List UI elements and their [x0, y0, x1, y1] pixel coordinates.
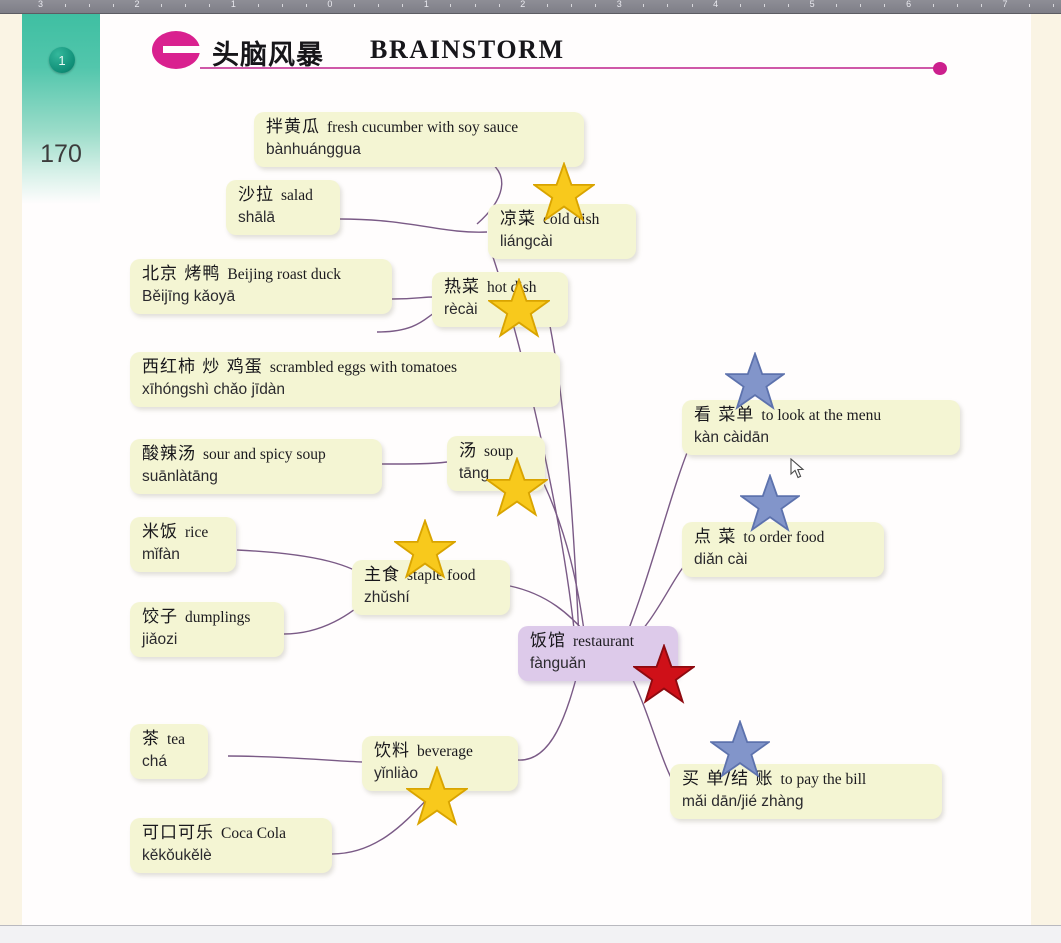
- ruler-tick: [957, 4, 958, 7]
- window-bottom-strip: [0, 925, 1061, 943]
- ruler-tick: [547, 4, 548, 7]
- list-item[interactable]: 饺子dumplings jiǎozi: [130, 602, 284, 657]
- ruler-tick: [667, 4, 668, 7]
- list-item[interactable]: 茶tea chá: [130, 724, 208, 779]
- node-pinyin: bànhuánggua: [266, 140, 572, 160]
- node-hanzi: 茶tea: [142, 729, 196, 751]
- mouse-cursor-icon: [790, 458, 806, 485]
- ruler-tick: [860, 4, 861, 7]
- node-hanzi: 饺子dumplings: [142, 607, 272, 629]
- node-pinyin: xīhóngshì chǎo jīdàn: [142, 380, 548, 400]
- list-item[interactable]: 沙拉salad shālā: [226, 180, 340, 235]
- node-pinyin: kěkǒukělè: [142, 846, 320, 866]
- node-hanzi: 饮料beverage: [374, 741, 506, 763]
- ruler-tick: [378, 4, 379, 7]
- ruler-tick: [981, 4, 982, 7]
- ruler-tick: [475, 4, 476, 7]
- list-item[interactable]: 看 菜单to look at the menu kàn càidān: [682, 400, 960, 455]
- node-hanzi: 拌黄瓜fresh cucumber with soy sauce: [266, 117, 572, 139]
- list-item[interactable]: 米饭rice mǐfàn: [130, 517, 236, 572]
- ruler-tick: [113, 4, 114, 7]
- node-pinyin: mǐfàn: [142, 545, 224, 565]
- ruler-tick: [1029, 4, 1030, 7]
- yellow-star-icon: [488, 278, 550, 338]
- list-item[interactable]: 可口可乐Coca Cola kěkǒukělè: [130, 818, 332, 873]
- node-hanzi: 西红柿 炒 鸡蛋scrambled eggs with tomatoes: [142, 357, 548, 379]
- ruler-tick: [258, 4, 259, 7]
- yellow-star-icon: [394, 519, 456, 579]
- ruler-tick: [161, 4, 162, 7]
- node-pinyin: suānlàtāng: [142, 467, 370, 487]
- yellow-star-icon: [406, 766, 468, 826]
- blue-star-icon: [725, 352, 785, 410]
- ruler-tick: [185, 4, 186, 7]
- ruler-tick: [692, 4, 693, 7]
- node-pinyin: diǎn cài: [694, 550, 872, 570]
- document-page-background: 1 170 头脑风暴 BRAINSTORM: [0, 14, 1061, 925]
- list-item[interactable]: 拌黄瓜fresh cucumber with soy sauce bànhuán…: [254, 112, 584, 167]
- ruler-tick: [933, 4, 934, 7]
- ruler-tick: [643, 4, 644, 7]
- node-pinyin: chá: [142, 752, 196, 772]
- ruler-number: 6: [906, 0, 911, 9]
- node-hanzi: 酸辣汤sour and spicy soup: [142, 444, 370, 466]
- ruler-tick: [402, 4, 403, 7]
- ruler-tick: [306, 4, 307, 7]
- node-pinyin: kàn càidān: [694, 428, 948, 448]
- node-hanzi: 可口可乐Coca Cola: [142, 823, 320, 845]
- ruler: 32101234567: [0, 0, 1061, 14]
- node-pinyin: mǎi dān/jié zhàng: [682, 792, 930, 812]
- node-pinyin: Běijīng kǎoyā: [142, 287, 380, 307]
- ruler-number: 1: [231, 0, 236, 9]
- ruler-number: 3: [617, 0, 622, 9]
- node-pinyin: jiǎozi: [142, 630, 272, 650]
- ruler-tick: [450, 4, 451, 7]
- ruler-number: 7: [1003, 0, 1008, 9]
- node-hanzi: 沙拉salad: [238, 185, 328, 207]
- ruler-tick: [836, 4, 837, 7]
- blue-star-icon: [710, 720, 770, 778]
- ruler-tick: [788, 4, 789, 7]
- ruler-number: 1: [424, 0, 429, 9]
- ruler-tick: [1053, 4, 1054, 7]
- yellow-star-icon: [486, 457, 548, 517]
- ruler-tick: [89, 4, 90, 7]
- ruler-tick: [354, 4, 355, 7]
- ruler-tick: [282, 4, 283, 7]
- ruler-number: 2: [520, 0, 525, 9]
- node-pinyin: shālā: [238, 208, 328, 228]
- node-hanzi: 米饭rice: [142, 522, 224, 544]
- ruler-tick: [764, 4, 765, 7]
- ruler-number: 2: [134, 0, 139, 9]
- ruler-number: 0: [327, 0, 332, 9]
- list-item[interactable]: 酸辣汤sour and spicy soup suānlàtāng: [130, 439, 382, 494]
- ruler-tick: [499, 4, 500, 7]
- ruler-tick: [65, 4, 66, 7]
- list-item[interactable]: 北京 烤鸭Beijing roast duck Běijīng kǎoyā: [130, 259, 392, 314]
- ruler-number: 5: [810, 0, 815, 9]
- node-pinyin: liángcài: [500, 232, 624, 252]
- node-hanzi: 北京 烤鸭Beijing roast duck: [142, 264, 380, 286]
- yellow-star-icon: [533, 162, 595, 222]
- ruler-number: 3: [38, 0, 43, 9]
- ruler-tick: [884, 4, 885, 7]
- red-star-icon: [633, 644, 695, 704]
- document-paper: 1 170 头脑风暴 BRAINSTORM: [22, 14, 1031, 925]
- node-pinyin: zhǔshí: [364, 588, 498, 608]
- ruler-tick: [740, 4, 741, 7]
- ruler-number: 4: [713, 0, 718, 9]
- list-item[interactable]: 西红柿 炒 鸡蛋scrambled eggs with tomatoes xīh…: [130, 352, 560, 407]
- ruler-tick: [209, 4, 210, 7]
- ruler-tick: [595, 4, 596, 7]
- ruler-tick: [571, 4, 572, 7]
